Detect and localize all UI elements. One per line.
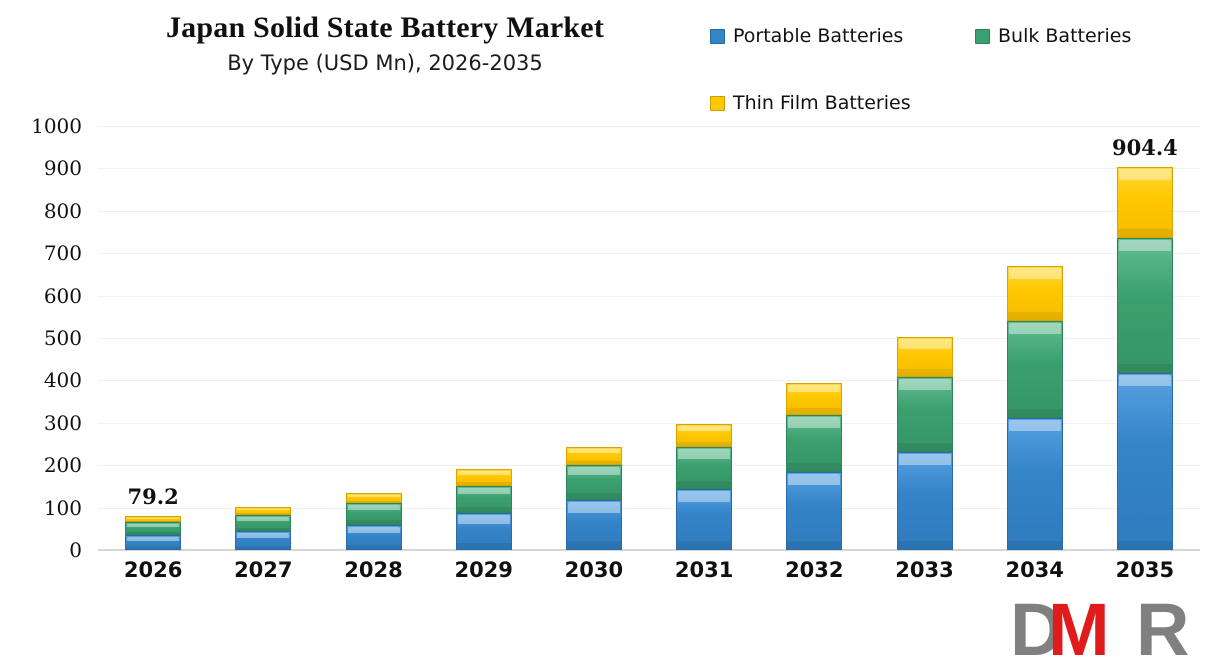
bar-segment-shadow bbox=[347, 501, 401, 502]
bar-segment-shadow bbox=[1118, 364, 1172, 372]
bar-segment-highlight bbox=[1119, 169, 1171, 180]
y-axis-tick-label: 500 bbox=[12, 326, 82, 350]
chart-legend: Portable Batteries Bulk Batteries Thin F… bbox=[700, 22, 1200, 122]
bar-segment-shadow bbox=[567, 541, 621, 549]
bar-segment-highlight bbox=[568, 449, 620, 453]
bar-segment[interactable] bbox=[897, 452, 953, 550]
bar-segment-highlight bbox=[458, 488, 510, 495]
bar-segment-highlight bbox=[1119, 240, 1171, 251]
bar-segment[interactable] bbox=[125, 522, 181, 535]
bar-segment-shadow bbox=[898, 443, 952, 451]
bar-segment[interactable] bbox=[1007, 418, 1063, 550]
bar-segment[interactable] bbox=[235, 531, 291, 550]
bar-segment-shadow bbox=[677, 442, 731, 446]
bar-group[interactable] bbox=[566, 126, 622, 550]
bar-segment[interactable] bbox=[676, 424, 732, 447]
y-axis-tick-label: 200 bbox=[12, 453, 82, 477]
bar-segment[interactable] bbox=[897, 337, 953, 377]
bar-segment[interactable] bbox=[566, 465, 622, 500]
legend-item-thin-film-batteries[interactable]: Thin Film Batteries bbox=[710, 92, 911, 114]
svg-text:R: R bbox=[1136, 591, 1189, 663]
bar-group[interactable] bbox=[1117, 126, 1173, 550]
bar-segment-highlight bbox=[788, 474, 840, 485]
y-axis-tick-label: 300 bbox=[12, 411, 82, 435]
bar-value-label: 904.4 bbox=[1075, 135, 1215, 160]
bar-segment-highlight bbox=[899, 454, 951, 465]
bar-segment-highlight bbox=[1009, 323, 1061, 334]
y-axis-tick-label: 600 bbox=[12, 284, 82, 308]
y-axis-tick-label: 1000 bbox=[12, 114, 82, 138]
bar-segment-highlight bbox=[568, 502, 620, 513]
bar-segment[interactable] bbox=[346, 525, 402, 550]
svg-text:M: M bbox=[1048, 591, 1110, 663]
legend-label-portable: Portable Batteries bbox=[733, 25, 903, 47]
bar-segment-highlight bbox=[458, 515, 510, 524]
bar-segment-highlight bbox=[678, 449, 730, 460]
bar-segment[interactable] bbox=[456, 469, 512, 485]
bar-segment[interactable] bbox=[456, 486, 512, 513]
bar-value-label: 79.2 bbox=[83, 484, 223, 509]
legend-item-portable-batteries[interactable]: Portable Batteries bbox=[710, 25, 903, 47]
bar-segment-shadow bbox=[347, 545, 401, 549]
bar-segment[interactable] bbox=[346, 503, 402, 525]
x-axis-labels: 2026202720282029203020312032203320342035 bbox=[98, 558, 1200, 592]
bar-segment-highlight bbox=[899, 379, 951, 390]
bar-segment-shadow bbox=[787, 463, 841, 471]
bar-group[interactable] bbox=[456, 126, 512, 550]
bar-segment-shadow bbox=[1008, 409, 1062, 417]
bar-segment-highlight bbox=[678, 491, 730, 502]
bar-segment[interactable] bbox=[235, 507, 291, 515]
bar-segment-shadow bbox=[787, 408, 841, 413]
bar-segment-highlight bbox=[127, 524, 179, 527]
bar-segment-shadow bbox=[787, 541, 841, 549]
bar-segment-shadow bbox=[236, 528, 290, 531]
bar-segment-shadow bbox=[236, 546, 290, 549]
legend-swatch-icon-bulk bbox=[975, 29, 990, 44]
bar-group[interactable] bbox=[676, 126, 732, 550]
bar-segment-shadow bbox=[567, 493, 621, 499]
y-axis-tick-label: 800 bbox=[12, 199, 82, 223]
bar-segment[interactable] bbox=[456, 513, 512, 550]
bar-segment[interactable] bbox=[125, 516, 181, 522]
bar-group[interactable] bbox=[346, 126, 402, 550]
bar-segment-highlight bbox=[237, 517, 289, 521]
y-axis-tick-label: 900 bbox=[12, 156, 82, 180]
bar-segment[interactable] bbox=[346, 493, 402, 503]
bar-segment-highlight bbox=[1009, 268, 1061, 279]
bar-segment-shadow bbox=[1118, 541, 1172, 549]
legend-item-bulk-batteries[interactable]: Bulk Batteries bbox=[975, 25, 1131, 47]
y-axis-tick-label: 700 bbox=[12, 241, 82, 265]
bar-segment-shadow bbox=[457, 507, 511, 512]
bar-segment-shadow bbox=[126, 547, 180, 549]
bar-segment-highlight bbox=[678, 426, 730, 431]
x-axis-tick-label: 2035 bbox=[1075, 558, 1215, 582]
bar-segment-highlight bbox=[348, 527, 400, 533]
dmr-watermark-logo: D R M bbox=[1008, 591, 1208, 663]
bar-segment-shadow bbox=[236, 513, 290, 514]
bar-segment-shadow bbox=[677, 541, 731, 549]
bar-group[interactable] bbox=[235, 126, 291, 550]
plot-area: 01002003004005006007008009001000 79.2904… bbox=[98, 126, 1200, 550]
title-block: Japan Solid State Battery Market By Type… bbox=[60, 10, 710, 78]
chart-page: Japan Solid State Battery Market By Type… bbox=[0, 0, 1216, 663]
bar-segment[interactable] bbox=[1007, 266, 1063, 320]
bar-segment[interactable] bbox=[235, 515, 291, 531]
bar-segment-highlight bbox=[1009, 420, 1061, 431]
bar-segment[interactable] bbox=[676, 447, 732, 490]
legend-swatch-icon-portable bbox=[710, 29, 725, 44]
bar-segment[interactable] bbox=[566, 447, 622, 464]
bar-segment-highlight bbox=[127, 537, 179, 540]
bar-segment[interactable] bbox=[786, 415, 842, 473]
bar-segment[interactable] bbox=[566, 500, 622, 550]
legend-label-thinfilm: Thin Film Batteries bbox=[733, 92, 911, 114]
page-subtitle: By Type (USD Mn), 2026-2035 bbox=[60, 49, 710, 77]
bar-segment[interactable] bbox=[676, 489, 732, 550]
bar-segment[interactable] bbox=[1117, 167, 1173, 238]
bar-segment-highlight bbox=[237, 509, 289, 511]
bar-segment-shadow bbox=[126, 521, 180, 522]
bar-segment-highlight bbox=[348, 505, 400, 510]
bar-segment-shadow bbox=[567, 461, 621, 464]
bar-segment-highlight bbox=[237, 533, 289, 537]
y-axis-tick-label: 400 bbox=[12, 368, 82, 392]
bar-segment[interactable] bbox=[786, 472, 842, 550]
bar-segment[interactable] bbox=[1117, 373, 1173, 550]
bar-segment-shadow bbox=[898, 541, 952, 549]
bar-segment[interactable] bbox=[786, 383, 842, 415]
legend-swatch-icon-thinfilm bbox=[710, 96, 725, 111]
bar-segment-highlight bbox=[788, 385, 840, 393]
bar-segment-shadow bbox=[898, 369, 952, 376]
bar-segment-highlight bbox=[348, 495, 400, 497]
bar-segment-shadow bbox=[677, 481, 731, 488]
bar-segment[interactable] bbox=[1117, 238, 1173, 374]
bar-segment-highlight bbox=[568, 467, 620, 476]
bar-group[interactable] bbox=[1007, 126, 1063, 550]
bar-segment-highlight bbox=[788, 417, 840, 428]
bar-segment-highlight bbox=[458, 471, 510, 475]
y-axis-tick-label: 100 bbox=[12, 496, 82, 520]
bar-segment[interactable] bbox=[1007, 321, 1063, 418]
bar-segment-shadow bbox=[1008, 312, 1062, 320]
bar-segment-highlight bbox=[127, 518, 179, 519]
bar-segment-highlight bbox=[1119, 375, 1171, 386]
bar-group[interactable] bbox=[786, 126, 842, 550]
page-title: Japan Solid State Battery Market bbox=[60, 10, 710, 45]
y-axis-tick-label: 0 bbox=[12, 538, 82, 562]
bar-segment[interactable] bbox=[125, 535, 181, 550]
bar-segment-shadow bbox=[457, 482, 511, 485]
bar-segment-shadow bbox=[457, 543, 511, 549]
bar-segment-highlight bbox=[899, 339, 951, 349]
bar-segment-shadow bbox=[1008, 541, 1062, 549]
bar-segment-shadow bbox=[1118, 229, 1172, 237]
bar-group[interactable] bbox=[897, 126, 953, 550]
legend-label-bulk: Bulk Batteries bbox=[998, 25, 1131, 47]
bar-segment-shadow bbox=[126, 532, 180, 534]
bar-segment[interactable] bbox=[897, 377, 953, 452]
bar-segment-shadow bbox=[347, 520, 401, 524]
